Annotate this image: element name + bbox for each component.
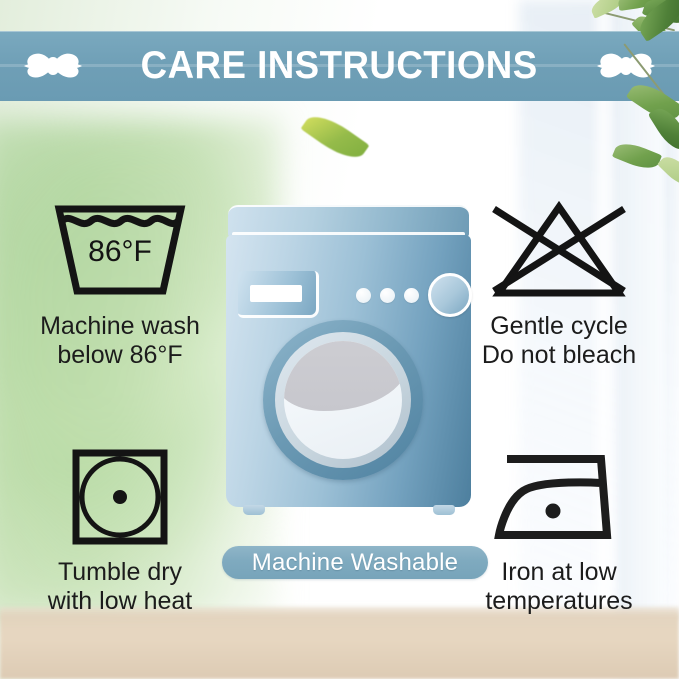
status-badge-label: Machine Washable xyxy=(252,549,458,577)
machine-button-1[interactable] xyxy=(356,288,371,303)
care-symbol-machine-wash: 86°F Machine wash below 86°F xyxy=(15,196,225,370)
detergent-drawer[interactable] xyxy=(238,271,319,318)
machine-body xyxy=(226,235,471,507)
machine-foot-left xyxy=(243,505,265,515)
wash-tub-icon: 86°F xyxy=(45,196,195,306)
fleur-de-lis-ornament xyxy=(20,43,86,89)
care-symbol-iron-low: Iron at low temperatures xyxy=(454,442,664,616)
page-title: CARE INSTRUCTIONS xyxy=(141,44,538,88)
care-instructions-infographic: CARE INSTRUCTIONS 86°F xyxy=(0,0,679,679)
care-symbol-do-not-bleach: Gentle cycle Do not bleach xyxy=(454,196,664,370)
machine-foot-right xyxy=(433,505,455,515)
leaf-icon xyxy=(612,138,662,174)
machine-door[interactable] xyxy=(263,320,423,480)
header-banner: CARE INSTRUCTIONS xyxy=(0,31,679,101)
care-symbol-tumble-dry: Tumble dry with low heat xyxy=(15,442,225,616)
care-symbol-caption: Machine wash below 86°F xyxy=(40,312,200,370)
wooden-table-surface xyxy=(0,607,679,679)
control-dial[interactable] xyxy=(428,273,472,317)
do-not-bleach-triangle-icon xyxy=(484,196,634,306)
leaf-branch-front xyxy=(600,46,679,176)
machine-button-2[interactable] xyxy=(380,288,395,303)
detergent-drawer-slot xyxy=(250,285,302,302)
machine-door-glass xyxy=(284,341,402,459)
machine-door-ring xyxy=(275,332,411,468)
tumble-dry-low-icon xyxy=(68,442,172,552)
machine-button-3[interactable] xyxy=(404,288,419,303)
care-symbol-caption: Tumble dry with low heat xyxy=(48,558,193,616)
iron-low-temperature-icon xyxy=(489,442,629,552)
laundry-inside-drum xyxy=(284,341,402,411)
care-symbol-caption: Gentle cycle Do not bleach xyxy=(482,312,636,370)
wash-temperature-label: 86°F xyxy=(88,235,152,268)
washing-machine-illustration xyxy=(226,205,471,535)
care-symbol-caption: Iron at low temperatures xyxy=(485,558,632,616)
status-badge: Machine Washable xyxy=(222,546,488,579)
